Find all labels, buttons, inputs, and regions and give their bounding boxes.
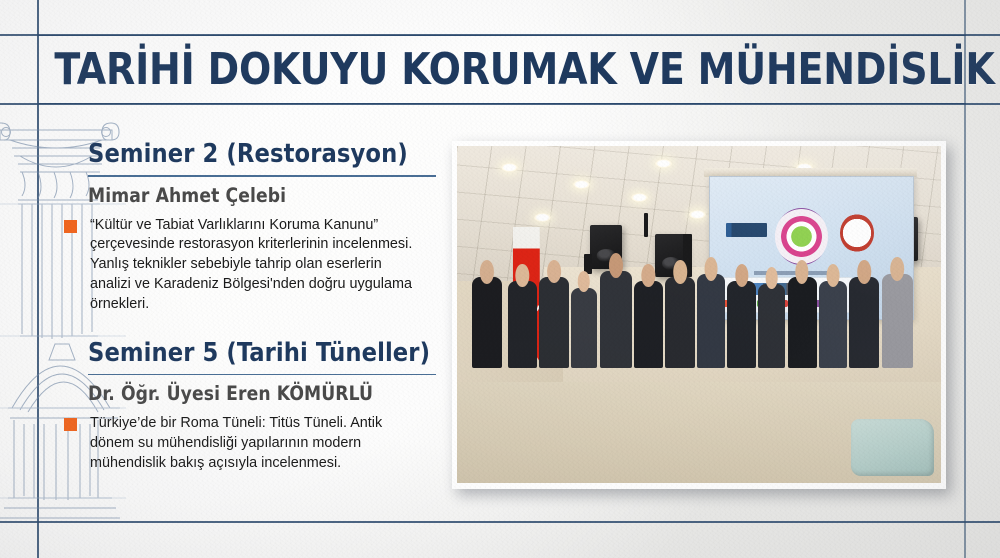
attendee-head [827, 264, 840, 287]
attendee-figure [849, 277, 879, 368]
attendee-head [857, 260, 871, 284]
orange-square-bullet-icon [64, 220, 77, 233]
ceiling-light-icon [501, 163, 518, 172]
attendee-head [765, 267, 778, 289]
attendee-figure [727, 281, 756, 369]
attendee-head [735, 264, 748, 287]
seminar-2-speaker: Dr. Öğr. Üyesi Eren KÖMÜRLÜ [88, 382, 431, 405]
projection-screen-housing [704, 168, 917, 177]
jacket-on-seat [851, 419, 933, 476]
attendee-figure [472, 277, 503, 368]
attendee-head [609, 253, 623, 277]
attendee-figure [788, 277, 817, 368]
attendee-figure [539, 277, 569, 368]
seminar-section-1: Seminer 2 (Restorasyon) Mimar Ahmet Çele… [88, 140, 438, 315]
seminar-1-rule [88, 175, 436, 176]
seminar-2-description: Türkiye’de bir Roma Tüneli: Titüs Tüneli… [90, 414, 426, 474]
attendee-head [704, 257, 717, 281]
attendee-figure [665, 277, 695, 368]
attendee-head [547, 260, 561, 283]
seminar-1-speaker: Mimar Ahmet Çelebi [88, 184, 431, 207]
seminar-section-2: Seminer 5 (Tarihi Tüneller) Dr. Öğr. Üye… [88, 339, 438, 474]
attendee-head [795, 260, 808, 284]
slide-university-seal [775, 208, 828, 265]
page-title: TARİHİ DOKUYU KORUMAK VE MÜHENDİSLİK MİR… [38, 44, 1000, 95]
seminar-2-rule [88, 374, 436, 375]
seminar-2-heading: Seminer 5 (Tarihi Tüneller) [88, 339, 428, 368]
attendee-figure [819, 281, 847, 369]
photo-frame [452, 141, 946, 489]
microphone-stand-icon [644, 213, 648, 237]
attendee-head [480, 260, 494, 284]
attendee-figure [571, 288, 597, 369]
conference-hall-group-photo [457, 146, 941, 483]
attendee-figure [634, 281, 663, 369]
attendee-figure [697, 274, 725, 368]
seminar-1-description: “Kültür ve Tabiat Varlıklarını Koruma Ka… [90, 216, 426, 315]
slide-title-banner: TARİHİ DOKUYU KORUMAK VE MÜHENDİSLİK MİR… [38, 35, 966, 104]
attendee-head [516, 264, 529, 287]
seminar-1-bullet-row: “Kültür ve Tabiat Varlıklarını Koruma Ka… [88, 216, 438, 315]
ceiling-light-icon [573, 180, 590, 189]
attendee-head [642, 264, 655, 287]
orange-square-bullet-icon [64, 418, 77, 431]
slide-ieee-logo [726, 223, 767, 237]
attendee-figure [600, 271, 632, 369]
attendee-head [578, 271, 591, 292]
attendee-head [891, 257, 905, 281]
attendee-figure [758, 284, 785, 368]
attendee-figure [508, 281, 537, 369]
slide-secondary-seal [840, 214, 875, 252]
seminar-1-heading: Seminer 2 (Restorasyon) [88, 140, 428, 169]
grid-line-horizontal-bottom [0, 521, 1000, 523]
seminar-2-bullet-row: Türkiye’de bir Roma Tüneli: Titüs Tüneli… [88, 414, 438, 474]
attendee-head [673, 260, 687, 284]
seminar-list: Seminer 2 (Restorasyon) Mimar Ahmet Çele… [88, 140, 438, 480]
attendee-figure [882, 274, 913, 368]
presentation-slide: TARİHİ DOKUYU KORUMAK VE MÜHENDİSLİK MİR… [0, 0, 1000, 558]
